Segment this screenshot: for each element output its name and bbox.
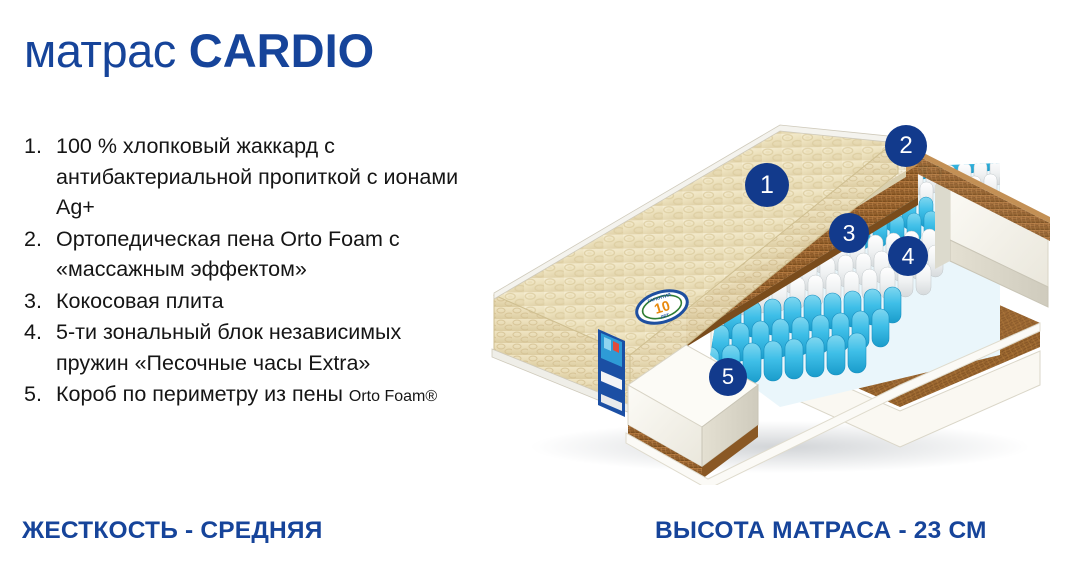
list-item-number: 4. — [14, 317, 56, 348]
list-item-label-small: Orto Foam® — [349, 388, 437, 405]
list-item: 2. Ортопедическая пена Orto Foam с «масс… — [14, 224, 474, 285]
list-item: 4. 5-ти зональный блок независимых пружи… — [14, 317, 474, 378]
height-caption: ВЫСОТА МАТРАСА - 23 СМ — [655, 517, 987, 545]
layer-badge-2: 2 — [885, 125, 927, 167]
layer-badge-1: 1 — [745, 163, 789, 207]
list-item-label: Кокосовая плита — [56, 286, 474, 317]
layer-badge-3: 3 — [829, 213, 869, 253]
layer-badge-5: 5 — [709, 358, 747, 396]
title-light: матрас — [24, 24, 176, 77]
list-item: 5. Короб по периметру из пены Orto Foam® — [14, 379, 474, 410]
poster-root: матрас CARDIO 1. 100 % хлопковый жаккард… — [0, 0, 1068, 567]
list-item: 3. Кокосовая плита — [14, 286, 474, 317]
list-item-number: 2. — [14, 224, 56, 255]
product-label-tag — [598, 329, 625, 417]
list-item-number: 5. — [14, 379, 56, 410]
list-item-label: Ортопедическая пена Orto Foam с «массажн… — [56, 224, 474, 285]
title-bold: CARDIO — [189, 24, 374, 77]
firmness-caption: ЖЕСТКОСТЬ - СРЕДНЯЯ — [22, 517, 323, 545]
list-item-label: 100 % хлопковый жаккард с антибактериаль… — [56, 131, 474, 223]
list-item-label: Короб по периметру из пены Orto Foam® — [56, 379, 474, 410]
list-item-number: 1. — [14, 131, 56, 162]
list-item-number: 3. — [14, 286, 56, 317]
list-item-label: 5-ти зональный блок независимых пружин «… — [56, 317, 474, 378]
list-item: 1. 100 % хлопковый жаккард с антибактери… — [14, 131, 474, 223]
feature-list: 1. 100 % хлопковый жаккард с антибактери… — [14, 131, 474, 411]
page-title: матрас CARDIO — [24, 26, 374, 75]
layer-badge-4: 4 — [888, 236, 928, 276]
mattress-cutaway-image: 10 ГАРАНТИЯ ЛЕТ — [480, 55, 1068, 485]
